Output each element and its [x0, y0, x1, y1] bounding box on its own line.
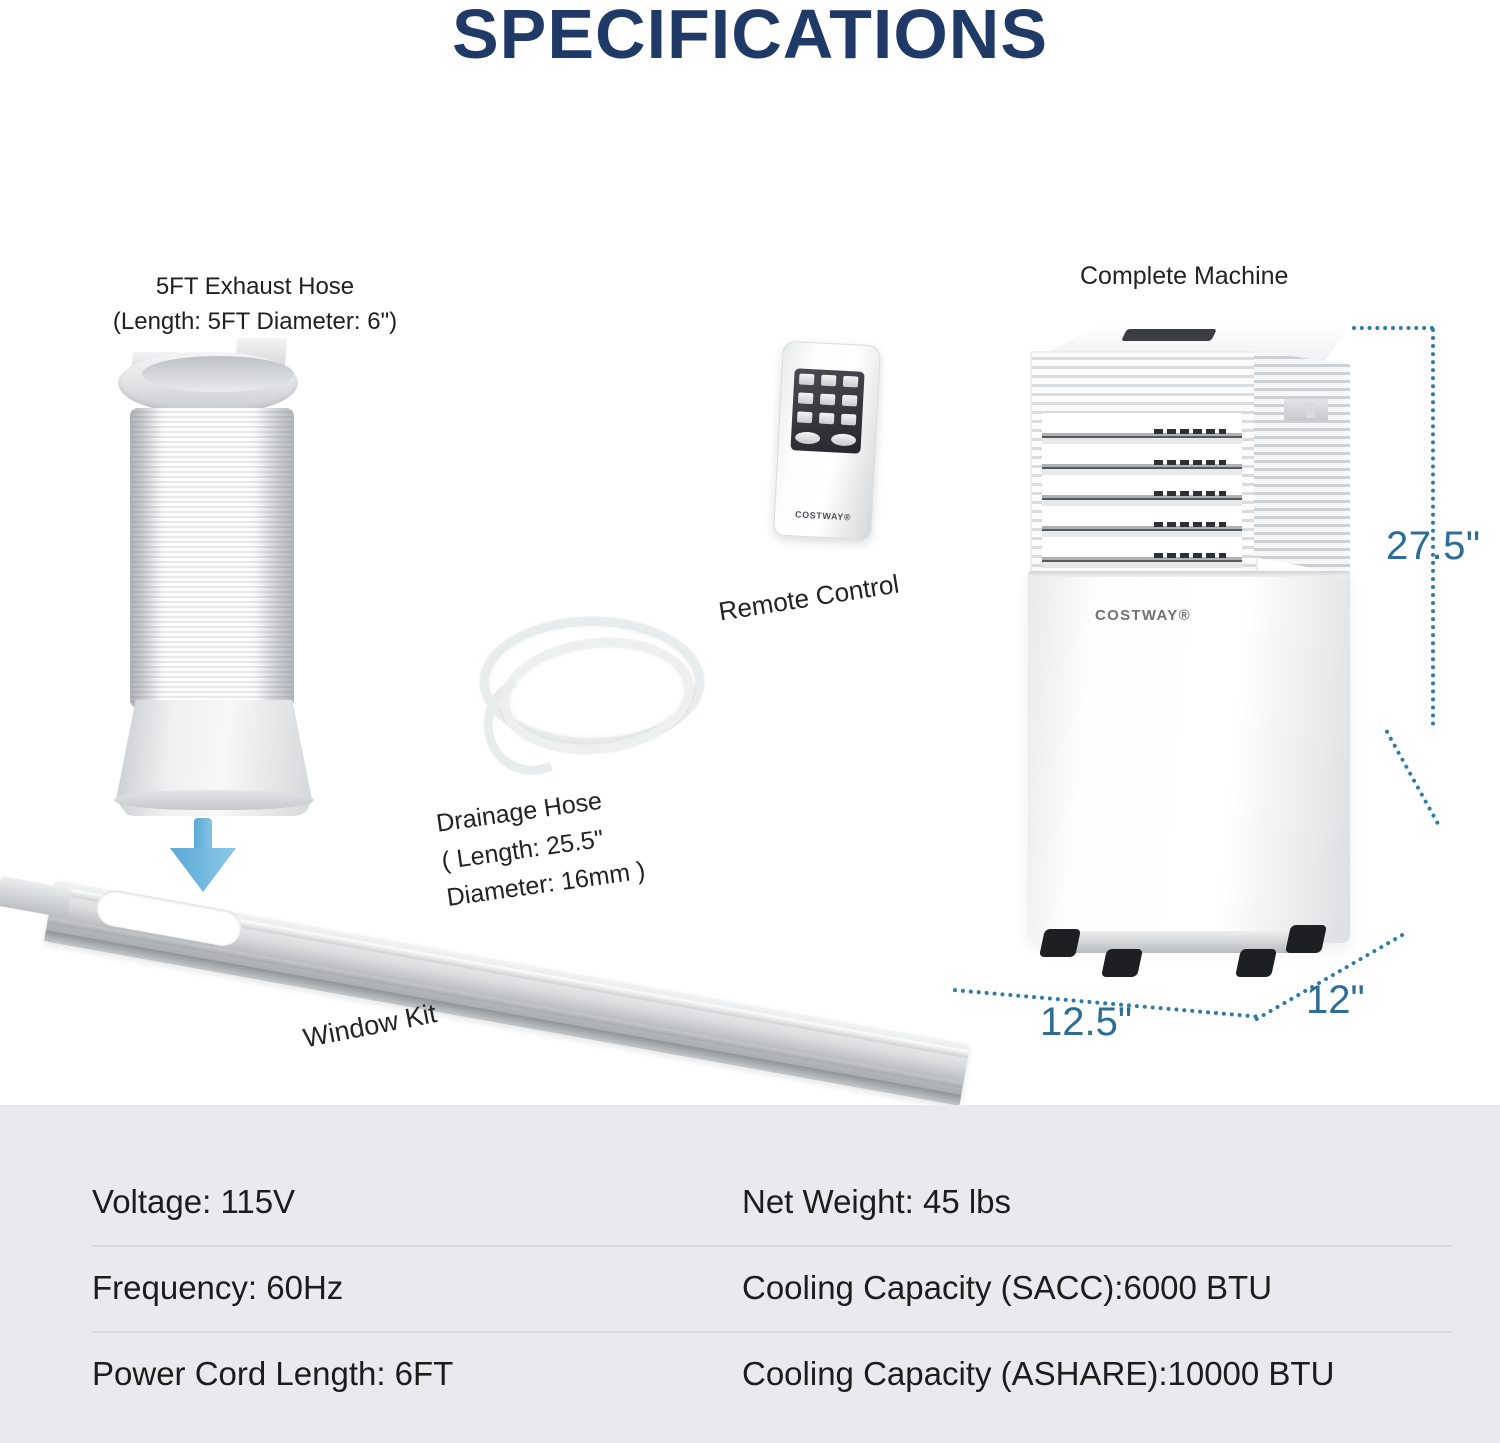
drainage-hose-image: [470, 615, 700, 755]
ac-louver-dash: [1154, 429, 1226, 434]
exhaust-hose-image: [108, 352, 323, 812]
ac-body: [1028, 571, 1350, 943]
spec-cell-frequency: Frequency: 60Hz: [92, 1245, 742, 1331]
remote-button-panel: [790, 368, 864, 454]
dimension-width-value: 12.5": [1040, 1000, 1132, 1045]
ac-body-seam: [1028, 571, 1350, 577]
remote-button-mode: [799, 373, 815, 385]
remote-control-label: Remote Control: [716, 566, 902, 632]
window-kit-edge: [44, 930, 961, 1106]
dimension-height-value: 27.5": [1386, 524, 1481, 569]
product-illustration-area: 5FT Exhaust Hose (Length: 5FT Diameter: …: [0, 100, 1500, 1105]
specs-grid: Voltage: 115V Net Weight: 45 lbs Frequen…: [92, 1161, 1452, 1417]
table-row: Voltage: 115V Net Weight: 45 lbs: [92, 1161, 1452, 1245]
table-row: Frequency: 60Hz Cooling Capacity (SACC):…: [92, 1245, 1452, 1331]
hose-adapter-lip: [114, 790, 314, 810]
hose-collar: [118, 352, 298, 414]
specifications-table: Voltage: 115V Net Weight: 45 lbs Frequen…: [0, 1105, 1500, 1443]
exhaust-hose-label-line1: 5FT Exhaust Hose: [156, 273, 354, 300]
hose-mouth: [142, 356, 294, 392]
spec-cell-voltage: Voltage: 115V: [92, 1161, 742, 1245]
ac-side-badge: [1284, 399, 1328, 421]
spec-cell-cooling-ashare: Cooling Capacity (ASHARE):10000 BTU: [742, 1331, 1452, 1417]
remote-button-fanspeed: [798, 392, 814, 404]
page-title: SPECIFICATIONS: [0, 0, 1500, 74]
remote-button-sleep: [819, 413, 835, 425]
ac-caster: [1101, 949, 1143, 977]
ac-louver-dash: [1154, 491, 1226, 496]
remote-button-timer: [795, 431, 821, 444]
ac-side-grille: [1254, 351, 1350, 575]
spec-cell-net-weight: Net Weight: 45 lbs: [742, 1161, 1452, 1245]
remote-button-power: [831, 433, 857, 446]
remote-button-low: [797, 411, 813, 423]
ac-louver-dash: [1154, 522, 1226, 527]
exhaust-hose-label-line2: (Length: 5FT Diameter: 6"): [60, 305, 450, 340]
remote-button-down: [820, 394, 836, 406]
table-row: Power Cord Length: 6FT Cooling Capacity …: [92, 1331, 1452, 1417]
ac-caster: [1039, 929, 1081, 957]
remote-button-up: [821, 375, 837, 387]
dimension-depth-value: 12": [1306, 978, 1365, 1023]
spec-cell-power-cord-length: Power Cord Length: 6FT: [92, 1331, 742, 1417]
remote-button-fan: [841, 414, 857, 426]
ac-caster: [1235, 949, 1277, 977]
ac-caster: [1285, 925, 1327, 953]
exhaust-hose-label: 5FT Exhaust Hose (Length: 5FT Diameter: …: [60, 270, 450, 340]
dimension-line-top: [1352, 326, 1434, 330]
ac-louver-dash: [1154, 460, 1226, 465]
specifications-page: SPECIFICATIONS 5FT Exhaust Hose (Length:…: [0, 0, 1500, 1443]
air-conditioner-image: COSTWAY®: [1016, 325, 1366, 965]
remote-control-image: COSTWAY®: [773, 341, 881, 541]
window-kit-rail-mid: [47, 917, 963, 1088]
remote-button-dry: [842, 395, 858, 407]
ac-louvers: [1042, 413, 1242, 577]
hose-accordion-body: [130, 408, 294, 708]
remote-brand-logo: COSTWAY®: [775, 508, 871, 523]
remote-button-cool: [843, 376, 859, 388]
ac-brand-logo: COSTWAY®: [1028, 607, 1258, 624]
dimension-line-height-lower: [1384, 729, 1440, 825]
complete-machine-label: Complete Machine: [1080, 258, 1288, 294]
ac-top-vent: [1121, 329, 1217, 341]
ac-louver-dash: [1154, 553, 1226, 558]
spec-cell-cooling-sacc: Cooling Capacity (SACC):6000 BTU: [742, 1245, 1452, 1331]
